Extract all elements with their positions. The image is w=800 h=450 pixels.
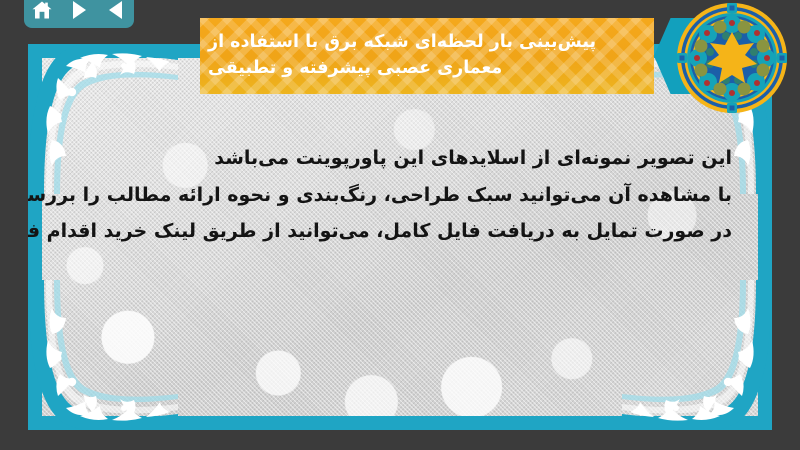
body-line-1: این تصویر نمونه‌ای از اسلایدهای این پاور… [28, 140, 732, 177]
home-icon [31, 0, 53, 20]
banner-body: پیش‌بینی بار لحظه‌ای شبکه برق با استفاده… [200, 18, 654, 94]
banner-arrow-tail [654, 18, 700, 94]
slide-viewer: این تصویر نمونه‌ای از اسلایدهای این پاور… [0, 0, 800, 450]
home-button[interactable] [29, 0, 55, 23]
title-line-1: پیش‌بینی بار لحظه‌ای شبکه برق با استفاده… [208, 30, 596, 56]
body-line-3: در صورت تمایل به دریافت فایل کامل، می‌تو… [28, 213, 732, 250]
slide-canvas: این تصویر نمونه‌ای از اسلایدهای این پاور… [28, 44, 772, 430]
slide-navigation-bar [24, 0, 134, 28]
previous-slide-button[interactable] [103, 0, 129, 23]
title-line-2: معماری عصبی پیشرفته و تطبیقی [208, 56, 502, 82]
next-slide-button[interactable] [66, 0, 92, 23]
slide-body-text: این تصویر نمونه‌ای از اسلایدهای این پاور… [28, 140, 732, 250]
body-line-2: با مشاهده آن می‌توانید سبک طراحی، رنگ‌بن… [28, 177, 732, 214]
slide-title-banner: پیش‌بینی بار لحظه‌ای شبکه برق با استفاده… [200, 18, 700, 94]
triangle-left-icon [109, 1, 122, 19]
triangle-right-icon [73, 1, 86, 19]
